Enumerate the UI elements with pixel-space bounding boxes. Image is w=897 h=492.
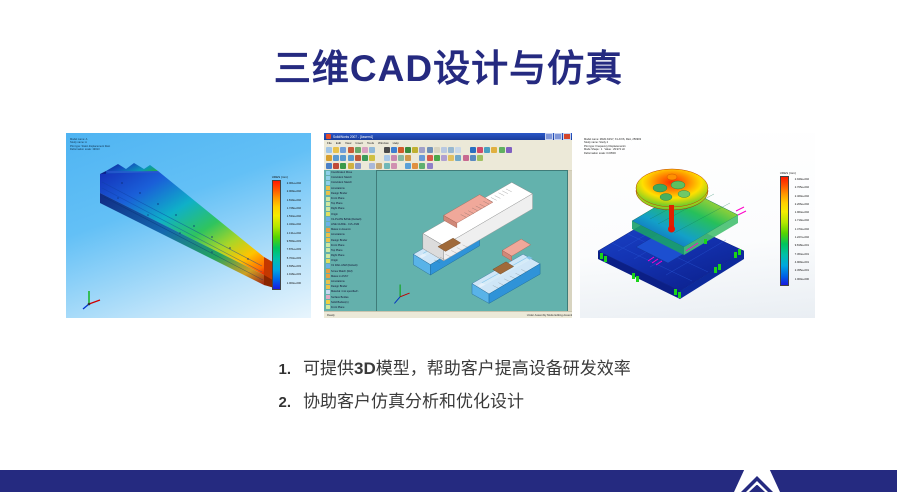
image-solidworks-window: SolidWorks 2007 - [Assem1] File Edit Vie… bbox=[324, 133, 572, 318]
legend-tick: 1.000e+000 bbox=[287, 280, 301, 288]
toolbar-icon-component[interactable] bbox=[477, 147, 483, 153]
toolbar-icon-select[interactable] bbox=[384, 147, 390, 153]
legend-colorbar bbox=[272, 180, 281, 290]
legend-tick: 2.455e+001 bbox=[795, 267, 809, 275]
menu-item-file[interactable]: File bbox=[327, 141, 332, 145]
gantry-assembly-model bbox=[377, 171, 567, 311]
toolbar-icon-rectangle[interactable] bbox=[355, 155, 361, 161]
slide-root: 三维CAD设计与仿真 Model name: A Study name: A P… bbox=[0, 0, 897, 492]
toolbar-icon-plane[interactable] bbox=[340, 163, 346, 169]
toolbar-icon-new[interactable] bbox=[326, 147, 332, 153]
status-bar: Ready Under Assembly Mode Editing Assemb… bbox=[324, 311, 572, 318]
toolbar-icon-revolve[interactable] bbox=[391, 155, 397, 161]
bullet-number: 2. bbox=[265, 394, 291, 411]
toolbar-icon-circle[interactable] bbox=[340, 155, 346, 161]
toolbar-icon-explode[interactable] bbox=[484, 147, 490, 153]
toolbar-icon-shaded[interactable] bbox=[419, 147, 425, 153]
legend-tick: 5.703e+003 bbox=[287, 255, 301, 263]
legend-ticks: 2.949e+002 2.705e+002 2.460e+002 2.206e+… bbox=[795, 176, 809, 284]
fea-modal-caption: Model name: MAIN ASSY, X1 AXIS, FEA, 250… bbox=[584, 138, 641, 155]
toolbar-icon-surface[interactable] bbox=[384, 163, 390, 169]
toolbar-icon-measure[interactable] bbox=[491, 147, 497, 153]
legend-tick: 2.206e+002 bbox=[795, 201, 809, 209]
legend-tick: 1.340e+002 bbox=[287, 221, 301, 229]
app-icon bbox=[326, 134, 331, 139]
bullet-number: 1. bbox=[265, 361, 291, 378]
fea-modal-viewport: Model name: MAIN ASSY, X1 AXIS, FEA, 250… bbox=[580, 133, 815, 318]
toolbar-icon-wireframe[interactable] bbox=[427, 147, 433, 153]
legend-tick: 2.705e+002 bbox=[795, 184, 809, 192]
toolbar-icon-mate[interactable] bbox=[470, 147, 476, 153]
solidworks-app: SolidWorks 2007 - [Assem1] File Edit Vie… bbox=[324, 133, 572, 318]
legend-tick: 2.001e+002 bbox=[287, 180, 301, 188]
toolbar-icon-extend[interactable] bbox=[369, 155, 375, 161]
legend-tick: 1.918e+003 bbox=[287, 271, 301, 279]
fea-beam-caption: Model name: A Study name: A Plot type: S… bbox=[70, 138, 110, 152]
toolbar-sep-4 bbox=[376, 155, 382, 161]
legend-tick: 1.534e+002 bbox=[287, 213, 301, 221]
toolbar-icon-extrude[interactable] bbox=[384, 155, 390, 161]
toolbar-icon-mirror[interactable] bbox=[463, 155, 469, 161]
window-titlebar: SolidWorks 2007 - [Assem1] bbox=[324, 133, 572, 140]
toolbar-icon-rib[interactable] bbox=[441, 155, 447, 161]
toolbar-icon-view-top[interactable] bbox=[448, 147, 454, 153]
legend-tick: 1.131e+002 bbox=[287, 230, 301, 238]
toolbar-icon-chamfer[interactable] bbox=[427, 155, 433, 161]
toolbar-icon-hole[interactable] bbox=[470, 155, 476, 161]
toolbar-icon-save[interactable] bbox=[340, 147, 346, 153]
toolbar-sep-7 bbox=[398, 163, 404, 169]
status-left: Ready bbox=[327, 314, 335, 317]
toolbar-icon-weldment[interactable] bbox=[391, 163, 397, 169]
toolbar-icon-sweep[interactable] bbox=[398, 155, 404, 161]
toolbar-icon-render[interactable] bbox=[506, 147, 512, 153]
toolbar-icon-open[interactable] bbox=[333, 147, 339, 153]
legend-tick: 1.473e+002 bbox=[795, 226, 809, 234]
list-item: 2. 协助客户仿真分析和优化设计 bbox=[265, 391, 825, 413]
toolbar-icon-zoom[interactable] bbox=[398, 147, 404, 153]
toolbar-icon-balloon[interactable] bbox=[376, 163, 382, 169]
toolbar-icon-pan[interactable] bbox=[405, 147, 411, 153]
toolbar-sep-1 bbox=[376, 147, 382, 153]
toolbar-icon-axis[interactable] bbox=[348, 163, 354, 169]
legend-tick: 1.964e+002 bbox=[795, 209, 809, 217]
menu-item-window[interactable]: Window bbox=[378, 141, 389, 145]
toolbar-icon-results[interactable] bbox=[427, 163, 433, 169]
toolbar-icon-run-study[interactable] bbox=[419, 163, 425, 169]
toolbar-icon-preview[interactable] bbox=[355, 147, 361, 153]
minimize-button[interactable] bbox=[545, 133, 553, 140]
legend-tick: 3.835e+003 bbox=[287, 263, 301, 271]
legend-tick: 2.009e+002 bbox=[287, 188, 301, 196]
toolbar-icon-shell[interactable] bbox=[434, 155, 440, 161]
list-item: 1. 可提供3D模型，帮助客户提高设备研发效率 bbox=[265, 358, 825, 380]
image-fea-beam: Model name: A Study name: A Plot type: S… bbox=[66, 133, 311, 318]
toolbar-icon-relation[interactable] bbox=[333, 163, 339, 169]
axis-triad-icon bbox=[82, 286, 106, 310]
fea-beam-model bbox=[88, 153, 284, 298]
legend-tick: 1.719e+002 bbox=[795, 217, 809, 225]
fea-modal-model bbox=[588, 155, 768, 305]
menu-item-tools[interactable]: Tools bbox=[367, 141, 374, 145]
cad-viewport[interactable] bbox=[376, 170, 568, 312]
toolbar-icon-massprops[interactable] bbox=[499, 147, 505, 153]
page-title: 三维CAD设计与仿真 bbox=[0, 38, 897, 92]
legend-tick: 2.460e+002 bbox=[795, 193, 809, 201]
legend-tick: 9.559e+003 bbox=[287, 238, 301, 246]
toolbar-sep-6 bbox=[362, 163, 368, 169]
image-fea-modal: Model name: MAIN ASSY, X1 AXIS, FEA, 250… bbox=[580, 133, 815, 318]
toolbar-icon-dimension[interactable] bbox=[326, 163, 332, 169]
toolbar-icon-curve[interactable] bbox=[477, 155, 483, 161]
legend-title: URES (mm) bbox=[780, 171, 809, 175]
legend-colorbar bbox=[780, 176, 789, 286]
legend-title: URES (mm) bbox=[272, 175, 301, 179]
fea-beam-legend: URES (mm) 2.001e+002 2.009e+002 1.819e+0… bbox=[272, 175, 301, 290]
fea-beam-viewport: Model name: A Study name: A Plot type: S… bbox=[66, 133, 311, 318]
toolbar-icon-simulation[interactable] bbox=[405, 163, 411, 169]
fea-modal-legend: URES (mm) 2.949e+002 2.705e+002 2.460e+0… bbox=[780, 171, 809, 286]
toolbar-sep-3 bbox=[463, 147, 469, 153]
menu-item-view[interactable]: View bbox=[345, 141, 351, 145]
toolbar-icon-arc[interactable] bbox=[348, 155, 354, 161]
toolbar-icon-pattern[interactable] bbox=[455, 155, 461, 161]
toolbar-icon-note[interactable] bbox=[369, 163, 375, 169]
legend-tick: 9.818e+001 bbox=[795, 242, 809, 250]
menu-item-insert[interactable]: Insert bbox=[355, 141, 363, 145]
toolbar-icon-sketch[interactable] bbox=[326, 155, 332, 161]
bullet-list: 1. 可提供3D模型，帮助客户提高设备研发效率 2. 协助客户仿真分析和优化设计 bbox=[265, 358, 825, 424]
toolbar-icon-rotate[interactable] bbox=[391, 147, 397, 153]
legend-tick: 1.728e+002 bbox=[287, 205, 301, 213]
toolbar-icon-trim[interactable] bbox=[362, 155, 368, 161]
legend-ticks: 2.001e+002 2.009e+002 1.819e+002 1.728e+… bbox=[287, 180, 301, 288]
toolbar-icon-mesh[interactable] bbox=[412, 163, 418, 169]
bullet-text: 协助客户仿真分析和优化设计 bbox=[303, 391, 524, 413]
toolbar-icon-draft[interactable] bbox=[448, 155, 454, 161]
toolbar-icon-line[interactable] bbox=[333, 155, 339, 161]
status-right: Under Assembly Mode Editing Assembly bbox=[527, 314, 572, 317]
toolbar-icon-section[interactable] bbox=[412, 147, 418, 153]
window-title: SolidWorks 2007 - [Assem1] bbox=[333, 135, 545, 139]
toolbar-icon-view-front[interactable] bbox=[441, 147, 447, 153]
bullet-text: 可提供3D模型，帮助客户提高设备研发效率 bbox=[303, 358, 631, 380]
toolbar-icon-loft[interactable] bbox=[405, 155, 411, 161]
toolbar-icon-fillet[interactable] bbox=[419, 155, 425, 161]
legend-tick: 1.819e+002 bbox=[287, 197, 301, 205]
window-controls[interactable] bbox=[545, 133, 571, 140]
toolbar-icon-print[interactable] bbox=[348, 147, 354, 153]
toolbar-icon-redo[interactable] bbox=[369, 147, 375, 153]
legend-tick: 1.227e+002 bbox=[795, 234, 809, 242]
legend-tick: 2.949e+002 bbox=[795, 176, 809, 184]
toolbar-icon-view-iso[interactable] bbox=[455, 147, 461, 153]
toolbar-sep-2 bbox=[434, 147, 440, 153]
menu-item-help[interactable]: Help bbox=[393, 141, 399, 145]
toolbar-icon-point[interactable] bbox=[355, 163, 361, 169]
legend-tick: 7.871e+003 bbox=[287, 246, 301, 254]
footer-bar bbox=[0, 470, 897, 492]
feature-tree-panel[interactable]: Coordinate1 Move Coincident Sketch Coinc… bbox=[324, 170, 377, 312]
menu-item-edit[interactable]: Edit bbox=[336, 141, 341, 145]
toolbar-icon-undo[interactable] bbox=[362, 147, 368, 153]
maximize-button[interactable] bbox=[554, 133, 562, 140]
legend-tick: 7.364e+001 bbox=[795, 251, 809, 259]
close-button[interactable] bbox=[563, 133, 571, 140]
toolbar-sep-5 bbox=[412, 155, 418, 161]
legend-tick: 4.909e+001 bbox=[795, 259, 809, 267]
legend-tick: 1.000e+000 bbox=[795, 276, 809, 284]
